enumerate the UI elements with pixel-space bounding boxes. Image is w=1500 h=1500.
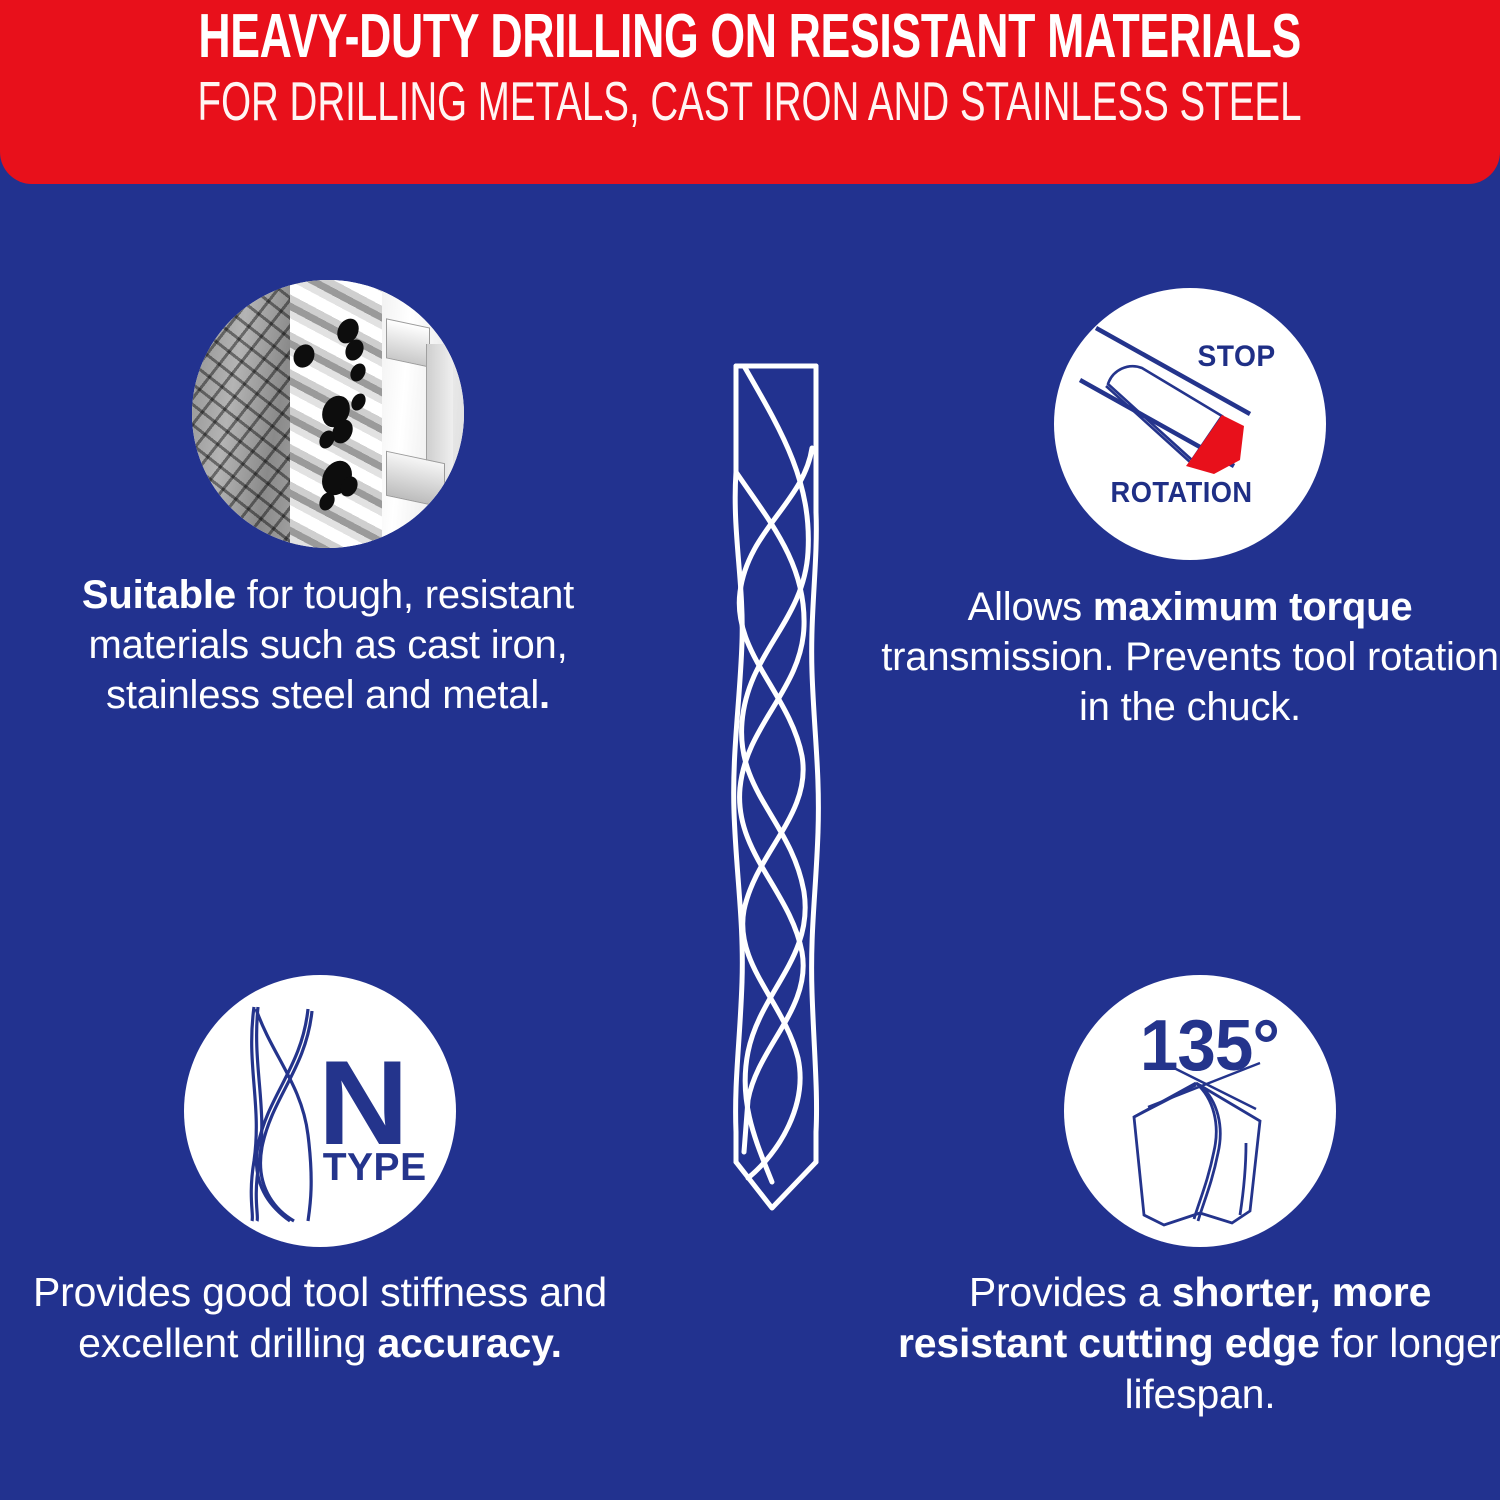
rotation-label: ROTATION	[1110, 477, 1252, 510]
feature-caption: Allows maximum torque transmission. Prev…	[880, 582, 1500, 732]
stop-label: STOP	[1198, 340, 1276, 374]
feature-cutting-edge: 135° Provides a shorter, more resistant …	[890, 975, 1500, 1420]
infographic-page: HEAVY-DUTY DRILLING ON RESISTANT MATERIA…	[0, 0, 1500, 1500]
stop-rotation-icon: STOP ROTATION	[1054, 288, 1326, 560]
twist-drill-bit-outline	[686, 352, 866, 1242]
metal-materials-photo	[192, 280, 464, 548]
n-letter: N	[318, 1048, 407, 1158]
n-type-flute-icon: N TYPE	[184, 975, 456, 1247]
type-word: TYPE	[323, 1148, 427, 1187]
angle-profile-web	[426, 344, 452, 483]
feature-materials: Suitable for tough, resistant materials …	[18, 280, 638, 720]
banner-subtitle: FOR DRILLING METALS, CAST IRON AND STAIN…	[198, 72, 1302, 130]
feature-torque: STOP ROTATION Allows maximum torque tran…	[880, 288, 1500, 732]
header-banner: HEAVY-DUTY DRILLING ON RESISTANT MATERIA…	[0, 0, 1500, 184]
photo-layers	[192, 280, 464, 548]
angle-label: 135°	[1140, 1010, 1279, 1082]
feature-stiffness: N TYPE Provides good tool stiffness and …	[10, 975, 630, 1369]
feature-caption: Suitable for tough, resistant materials …	[18, 570, 638, 720]
drill-bit-line-art	[686, 352, 866, 1242]
feature-caption: Provides good tool stiffness and excelle…	[10, 1267, 630, 1369]
diamond-plate-layer	[192, 280, 301, 548]
drill-point-angle-icon: 135°	[1064, 975, 1336, 1247]
hex-shank-drawing	[1054, 288, 1326, 560]
banner-title: HEAVY-DUTY DRILLING ON RESISTANT MATERIA…	[199, 6, 1302, 68]
angle-profile-layer	[382, 280, 464, 548]
feature-caption: Provides a shorter, more resistant cutti…	[890, 1267, 1500, 1420]
